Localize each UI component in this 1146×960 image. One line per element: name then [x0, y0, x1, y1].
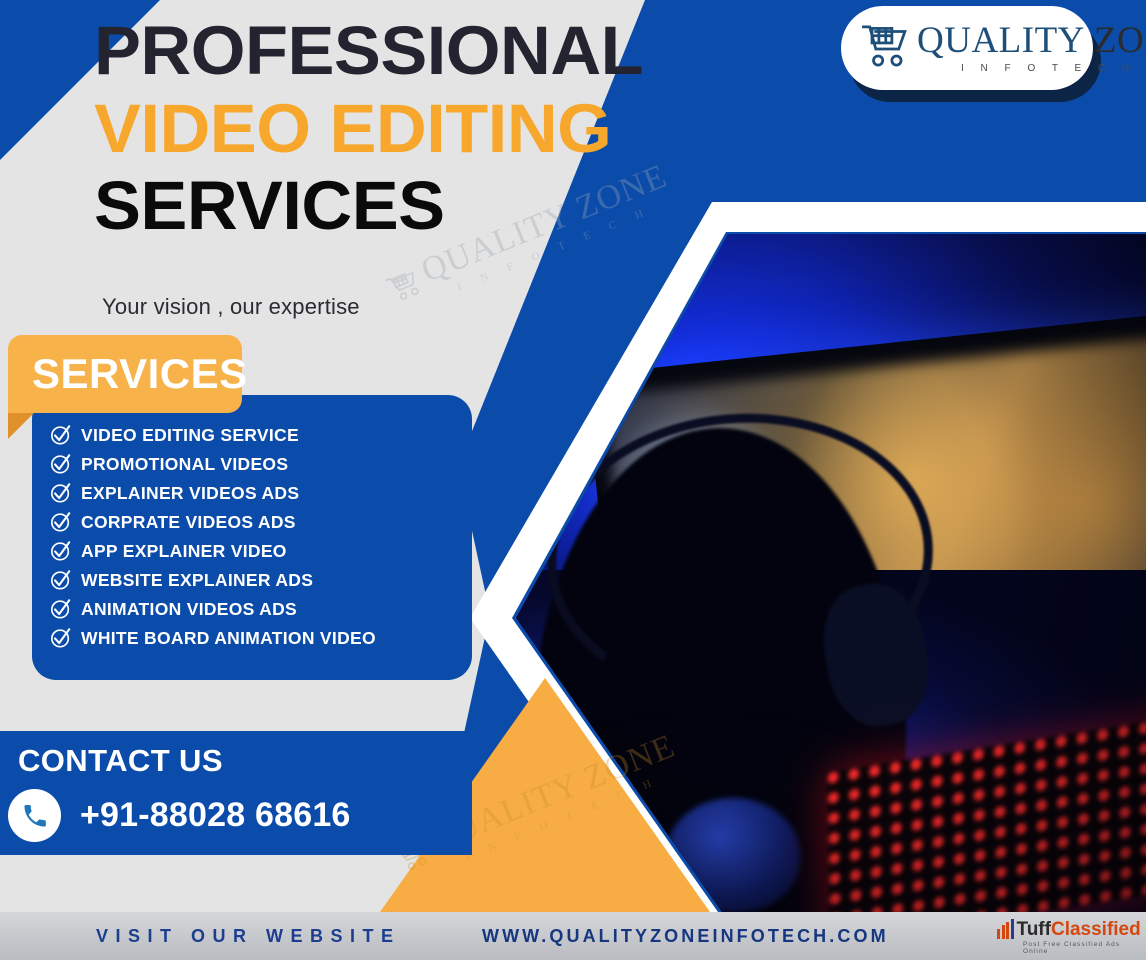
service-label: APP EXPLAINER VIDEO — [81, 541, 287, 562]
service-label: WEBSITE EXPLAINER ADS — [81, 570, 313, 591]
service-label: VIDEO EDITING SERVICE — [81, 425, 299, 446]
bar-chart-icon — [997, 919, 1014, 939]
tuff-word: Tuff — [1017, 920, 1051, 939]
logo-word-quality: QUALITY — [917, 22, 1085, 59]
poster-root: QUALITY ZONE I N F O T E C H — [0, 0, 1146, 960]
classified-word: Classified — [1051, 920, 1141, 939]
service-list-item: PROMOTIONAL VIDEOS — [50, 452, 454, 476]
headline-block: PROFESSIONAL VIDEO EDITING SERVICES — [94, 18, 654, 239]
check-circle-icon — [50, 540, 72, 562]
service-label: PROMOTIONAL VIDEOS — [81, 454, 288, 475]
contact-phone-number: +91-88028 68616 — [80, 796, 351, 835]
headline-tagline: Your vision , our expertise — [102, 294, 360, 320]
contact-band: CONTACT US +91-88028 68616 — [0, 731, 472, 855]
contact-title: CONTACT US — [18, 743, 223, 779]
service-list-item: EXPLAINER VIDEOS ADS — [50, 481, 454, 505]
service-list-item: CORPRATE VIDEOS ADS — [50, 510, 454, 534]
check-circle-icon — [50, 453, 72, 475]
poster-canvas: QUALITY ZONE I N F O T E C H — [0, 0, 1146, 912]
service-list-item: VIDEO EDITING SERVICE — [50, 423, 454, 447]
footer-website-url[interactable]: WWW.QUALITYZONEINFOTECH.COM — [482, 926, 889, 947]
phone-icon — [8, 789, 61, 842]
check-circle-icon — [50, 511, 72, 533]
services-tab: SERVICES — [8, 335, 242, 413]
logo-pill: QUALITY ZONE I N F O T E C H — [841, 6, 1093, 90]
service-label: WHITE BOARD ANIMATION VIDEO — [81, 628, 376, 649]
headline-line-1: PROFESSIONAL — [94, 18, 665, 84]
contact-phone-row[interactable]: +91-88028 68616 — [8, 789, 351, 842]
shopping-cart-icon — [382, 265, 427, 310]
check-circle-icon — [50, 598, 72, 620]
service-list-item: ANIMATION VIDEOS ADS — [50, 597, 454, 621]
service-list-item: WEBSITE EXPLAINER ADS — [50, 568, 454, 592]
tuffclassified-logo[interactable]: Tuff Classified Post Free Classified Ads… — [997, 918, 1137, 956]
services-tab-label: SERVICES — [32, 353, 248, 395]
services-panel: VIDEO EDITING SERVICE PROMOTIONAL VIDEOS… — [32, 395, 472, 680]
check-circle-icon — [50, 482, 72, 504]
check-circle-icon — [50, 569, 72, 591]
services-tab-fold — [8, 413, 34, 439]
check-circle-icon — [50, 627, 72, 649]
logo-word-zone: ZONE — [1094, 22, 1146, 59]
headline-line-3: SERVICES — [94, 173, 665, 239]
headline-line-2: VIDEO EDITING — [94, 96, 665, 162]
logo-infotech: I N F O T E C H — [961, 64, 1146, 74]
service-list-item: WHITE BOARD ANIMATION VIDEO — [50, 626, 454, 650]
service-label: CORPRATE VIDEOS ADS — [81, 512, 296, 533]
brand-logo[interactable]: QUALITY ZONE I N F O T E C H — [841, 6, 1099, 98]
shopping-cart-icon-logo — [859, 22, 911, 75]
service-label: EXPLAINER VIDEOS ADS — [81, 483, 299, 504]
service-label: ANIMATION VIDEOS ADS — [81, 599, 297, 620]
check-circle-icon — [50, 424, 72, 446]
footer-bar: VISIT OUR WEBSITE WWW.QUALITYZONEINFOTEC… — [0, 912, 1146, 960]
service-list-item: APP EXPLAINER VIDEO — [50, 539, 454, 563]
footer-visit-label: VISIT OUR WEBSITE — [96, 926, 401, 947]
tuff-tagline: Post Free Classified Ads Online — [1023, 941, 1137, 955]
